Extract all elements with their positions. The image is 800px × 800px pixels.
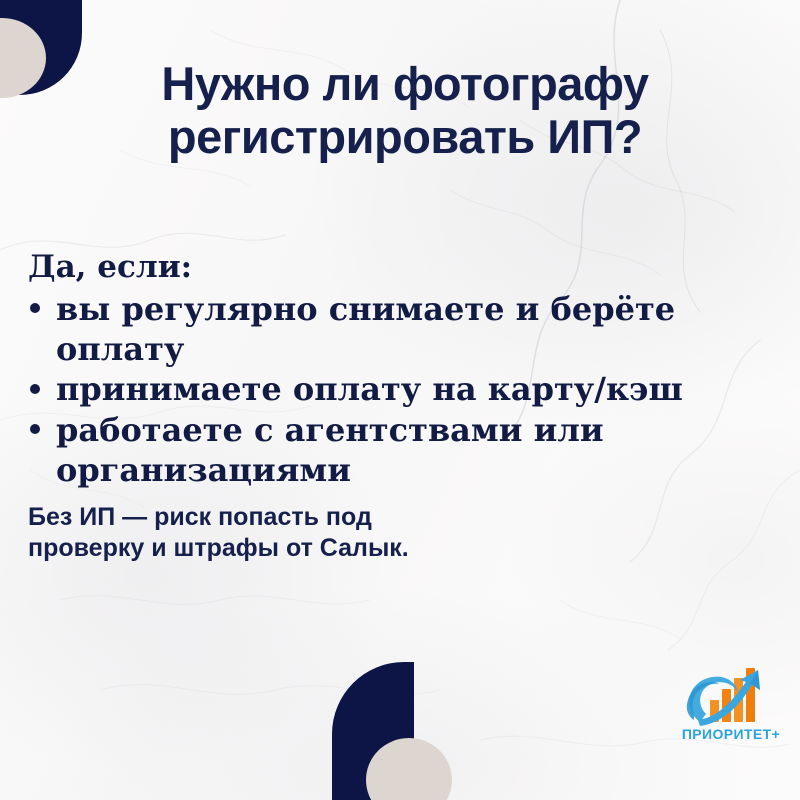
warning-note: Без ИП — риск попасть под проверку и штр…	[28, 502, 588, 563]
body-lead-text: Да, если:	[28, 248, 778, 287]
page-title: Нужно ли фотографу регистрировать ИП?	[60, 58, 750, 163]
bullet-dot-icon	[30, 424, 40, 434]
logo-wordmark: ПРИОРИТЕТ+	[672, 726, 790, 742]
bullet-dot-icon	[30, 303, 40, 313]
list-item: принимаете оплату на карту/кэш	[28, 369, 778, 409]
growth-chart-arrow-icon	[680, 662, 780, 730]
poster-canvas: Нужно ли фотографу регистрировать ИП? Да…	[0, 0, 800, 800]
list-item: вы регулярно снимаете и берёте оплату	[28, 289, 778, 370]
bullet-dot-icon	[30, 384, 40, 394]
list-item-label: работаете с агентствами или организациям…	[56, 411, 604, 489]
list-item-label: принимаете оплату на карту/кэш	[56, 370, 683, 408]
list-item: работаете с агентствами или организациям…	[28, 410, 778, 491]
brand-logo: ПРИОРИТЕТ+	[672, 662, 790, 758]
body-text-block: Да, если: вы регулярно снимаете и берёте…	[28, 248, 778, 490]
conditions-list: вы регулярно снимаете и берёте оплату пр…	[28, 289, 778, 491]
list-item-label: вы регулярно снимаете и берёте оплату	[56, 290, 675, 368]
